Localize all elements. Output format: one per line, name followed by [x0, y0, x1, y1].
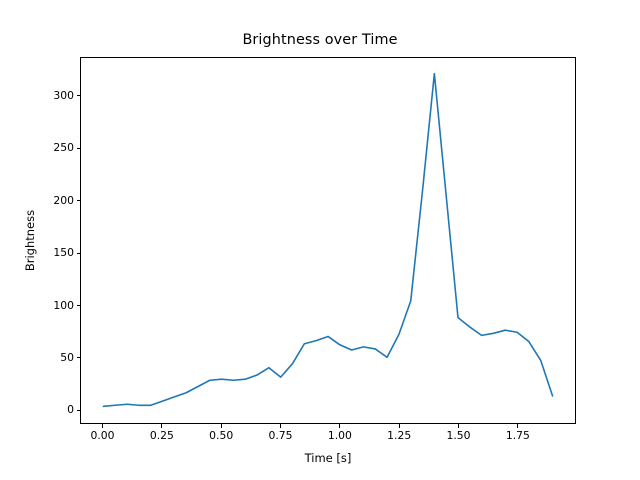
y-tick-mark	[77, 305, 81, 306]
y-tick-label: 200	[53, 195, 74, 207]
x-tick-mark	[221, 424, 222, 428]
x-tick-mark	[102, 424, 103, 428]
line-series-brightness	[81, 58, 575, 423]
y-tick-mark	[77, 357, 81, 358]
x-tick-label: 0.00	[91, 430, 115, 442]
y-tick-mark	[77, 200, 81, 201]
x-tick-label: 1.00	[328, 430, 352, 442]
y-tick-mark	[77, 95, 81, 96]
y-axis-label: Brightness	[20, 57, 40, 424]
matplotlib-figure: Brightness over Time 050100150200250300 …	[0, 0, 640, 480]
chart-title: Brightness over Time	[0, 31, 640, 49]
x-tick-mark	[517, 424, 518, 428]
x-tick-mark	[399, 424, 400, 428]
y-tick-label: 150	[53, 247, 74, 259]
x-axis-label: Time [s]	[80, 451, 576, 465]
plot-axes-frame	[80, 57, 576, 424]
x-tick-label: 0.50	[209, 430, 233, 442]
x-tick-label: 1.75	[506, 430, 530, 442]
y-tick-mark	[77, 148, 81, 149]
y-tick-mark	[77, 410, 81, 411]
x-tick-mark	[458, 424, 459, 428]
x-tick-mark	[339, 424, 340, 428]
x-tick-label: 1.50	[446, 430, 470, 442]
y-tick-label: 100	[53, 300, 74, 312]
x-tick-mark	[280, 424, 281, 428]
y-tick-label: 50	[60, 352, 74, 364]
x-tick-label: 1.25	[387, 430, 411, 442]
y-tick-label: 0	[67, 404, 74, 416]
x-tick-label: 0.25	[150, 430, 174, 442]
y-tick-label: 250	[53, 142, 74, 154]
x-tick-mark	[161, 424, 162, 428]
series-polyline	[103, 74, 552, 407]
y-tick-label: 300	[53, 90, 74, 102]
y-tick-mark	[77, 253, 81, 254]
x-tick-label: 0.75	[269, 430, 293, 442]
